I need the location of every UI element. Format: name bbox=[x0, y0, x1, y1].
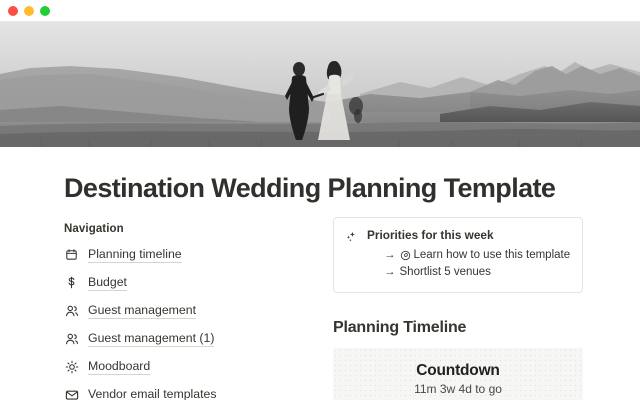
page-content: Destination Wedding Planning Template Na… bbox=[0, 147, 640, 400]
sidebar-item-budget[interactable]: Budget bbox=[64, 271, 314, 294]
sidebar-item-label: Budget bbox=[88, 275, 127, 291]
sidebar-item-moodboard[interactable]: Moodboard bbox=[64, 355, 314, 378]
countdown-title: Countdown bbox=[416, 361, 499, 380]
people-icon bbox=[64, 303, 79, 318]
dollar-icon bbox=[64, 275, 79, 290]
hero-image bbox=[0, 22, 640, 147]
priority-item-label: Shortlist 5 venues bbox=[400, 264, 491, 280]
maximize-button[interactable] bbox=[40, 6, 50, 16]
sidebar-item-label: Guest management bbox=[88, 303, 196, 319]
sidebar-item-label: Guest management (1) bbox=[88, 331, 214, 347]
countdown-subtitle: 11m 3w 4d to go bbox=[414, 381, 502, 397]
right-column: Priorities for this week → Learn how to … bbox=[333, 217, 583, 400]
minimize-button[interactable] bbox=[24, 6, 34, 16]
calendar-icon bbox=[64, 247, 79, 262]
page-title: Destination Wedding Planning Template bbox=[64, 173, 555, 204]
sparkles-icon bbox=[344, 230, 360, 249]
sidebar-item-label: Planning timeline bbox=[88, 247, 182, 263]
sidebar-item-planning-timeline[interactable]: Planning timeline bbox=[64, 243, 314, 266]
sidebar-item-label: Vendor email templates bbox=[88, 387, 217, 400]
sun-icon bbox=[64, 359, 79, 374]
close-button[interactable] bbox=[8, 6, 18, 16]
priorities-card: Priorities for this week → Learn how to … bbox=[333, 217, 583, 293]
sidebar-item-guest-management[interactable]: Guest management bbox=[64, 299, 314, 322]
window-titlebar bbox=[0, 0, 640, 22]
target-icon bbox=[400, 250, 411, 261]
sidebar-item-vendor-email-templates[interactable]: Vendor email templates bbox=[64, 383, 314, 400]
navigation-panel: Navigation Planning timeline Budget bbox=[64, 223, 314, 400]
priorities-title: Priorities for this week bbox=[367, 228, 570, 243]
priority-item-shortlist-venues[interactable]: → Shortlist 5 venues bbox=[384, 264, 570, 280]
sidebar-item-guest-management-1[interactable]: Guest management (1) bbox=[64, 327, 314, 350]
envelope-icon bbox=[64, 387, 79, 400]
people-icon bbox=[64, 331, 79, 346]
priority-item-label: Learn how to use this template bbox=[414, 247, 571, 263]
navigation-heading: Navigation bbox=[64, 223, 314, 235]
priority-item-learn-template[interactable]: → Learn how to use this template bbox=[384, 247, 570, 263]
arrow-right-icon: → bbox=[384, 264, 396, 280]
arrow-right-icon: → bbox=[384, 247, 396, 263]
sidebar-item-label: Moodboard bbox=[88, 359, 150, 375]
hero-photograph bbox=[0, 22, 640, 147]
countdown-card: Countdown 11m 3w 4d to go bbox=[333, 348, 583, 400]
planning-timeline-heading: Planning Timeline bbox=[333, 319, 583, 337]
